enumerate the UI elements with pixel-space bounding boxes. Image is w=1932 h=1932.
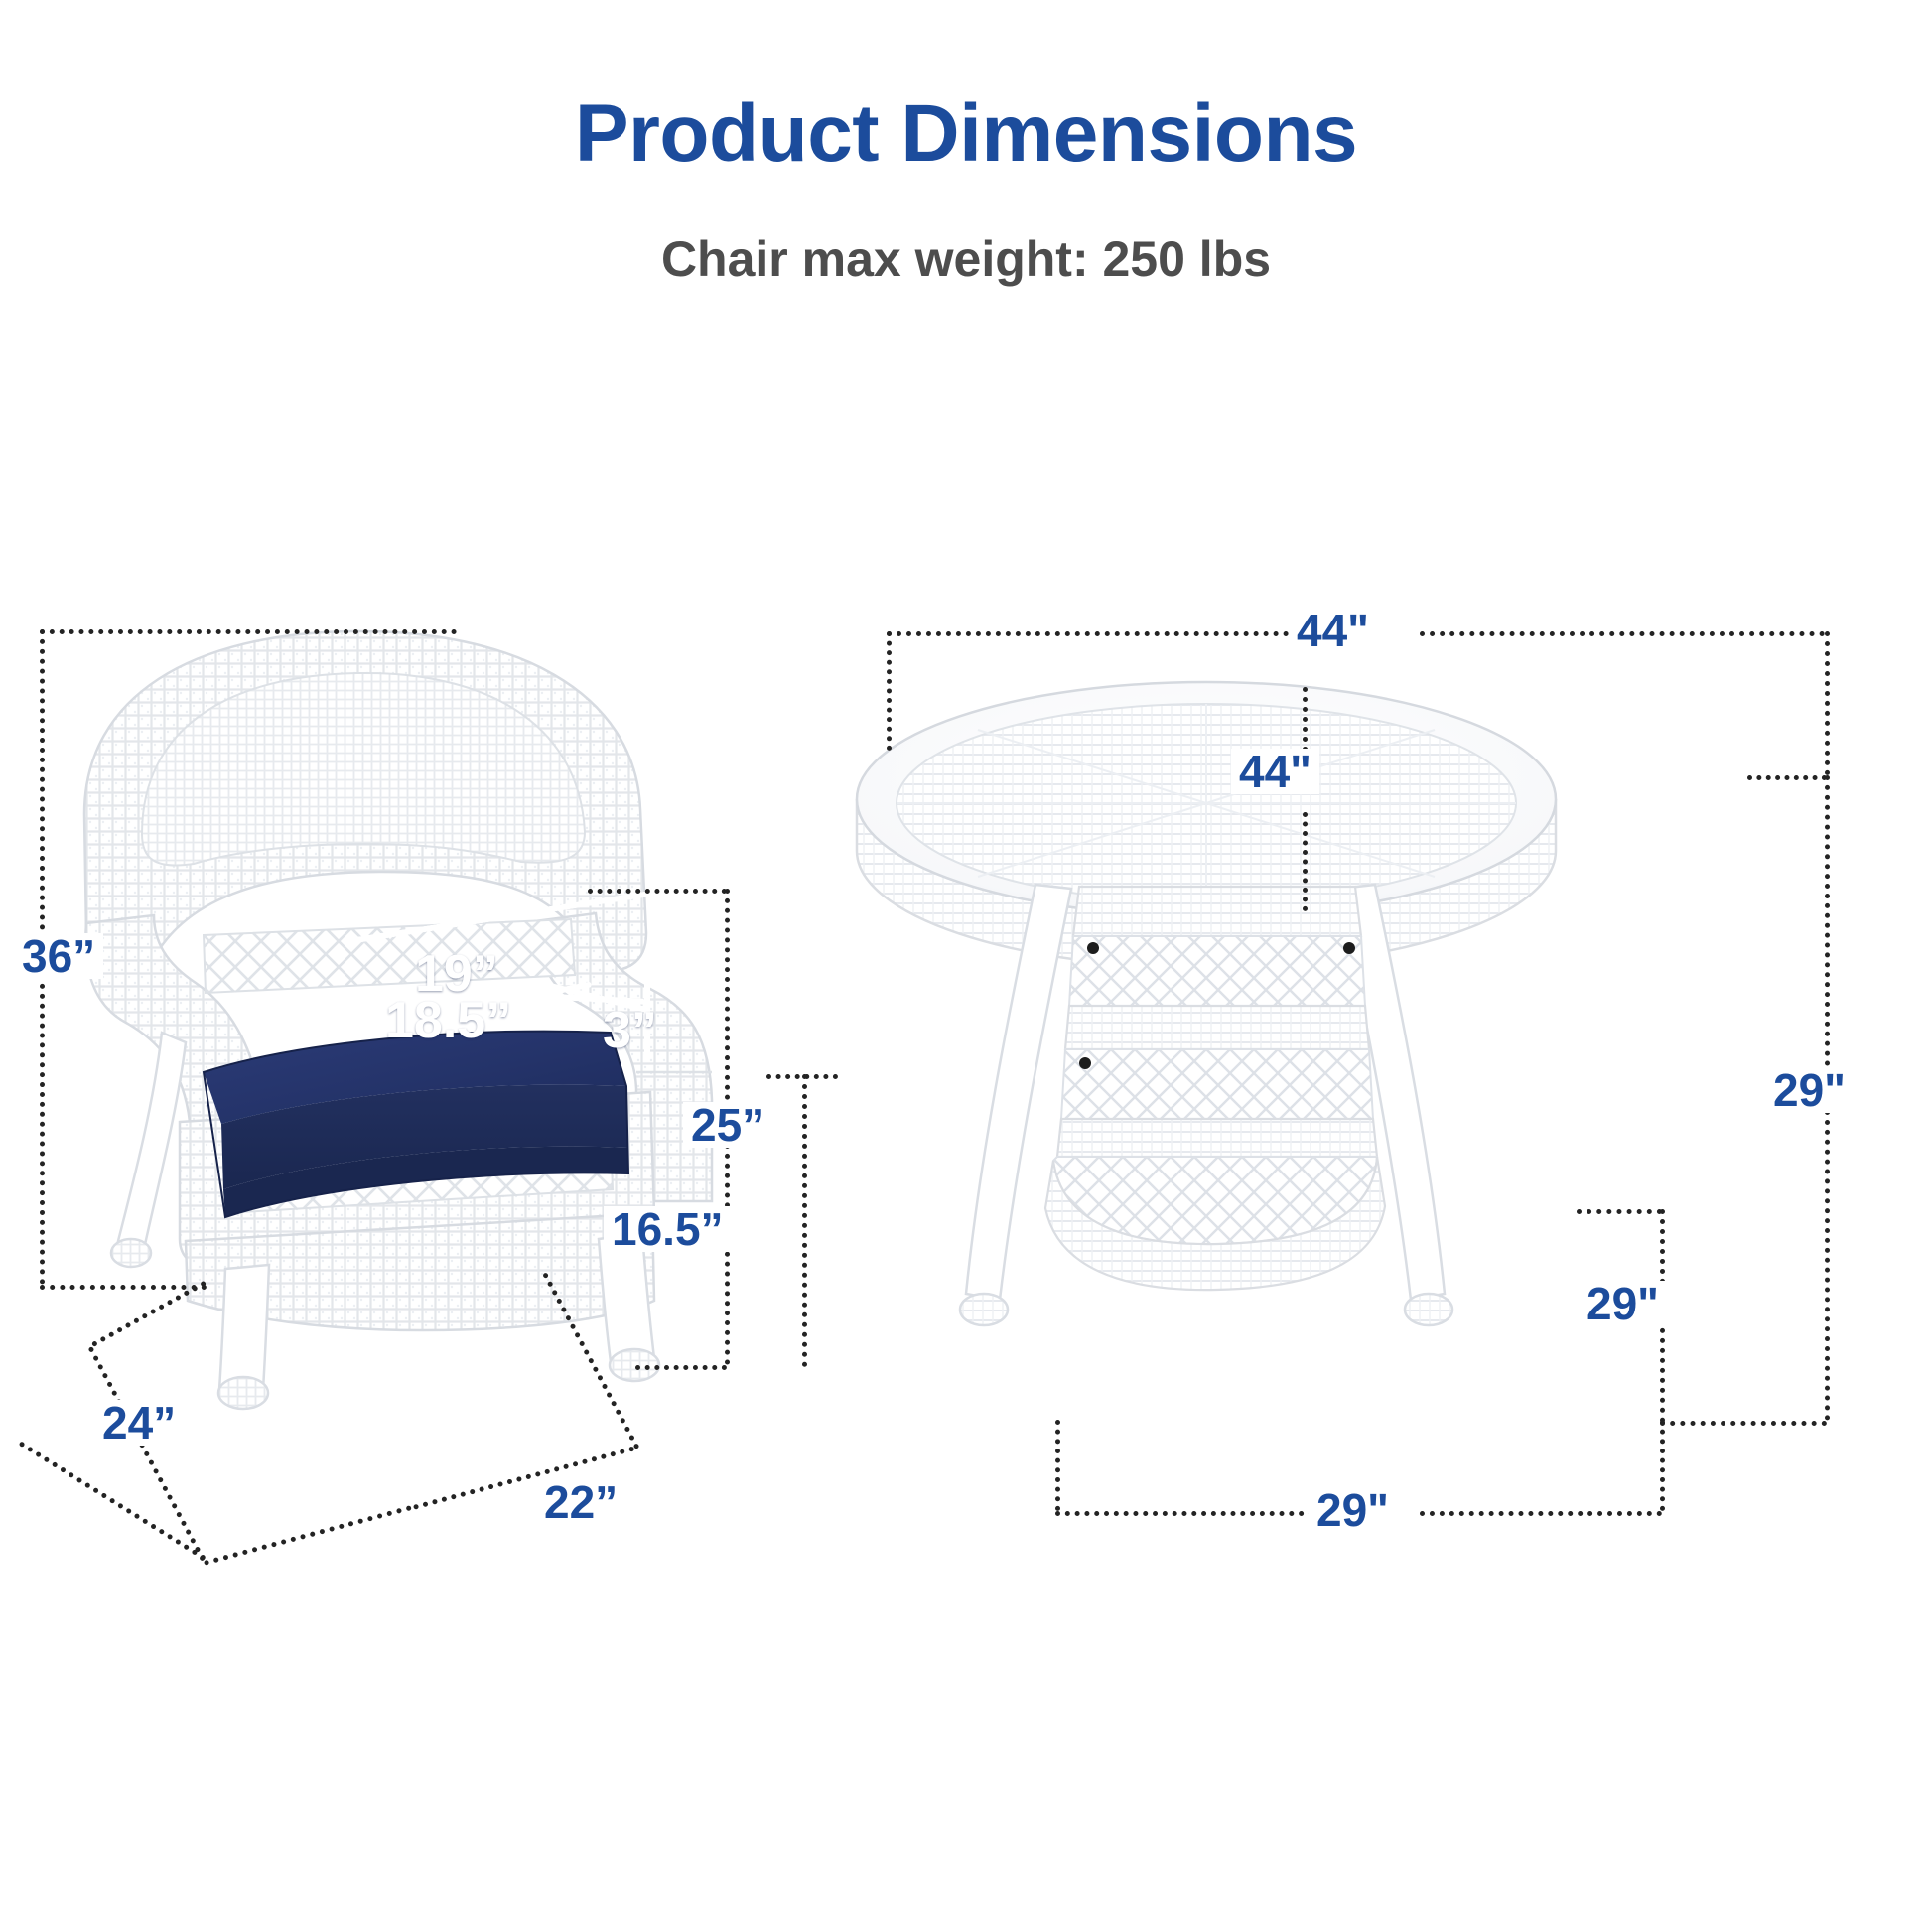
table-base-depth-label: 29" [1579,1281,1667,1326]
chair-height-top-guide [40,629,457,634]
chair-back-lattice [204,919,575,993]
page-subtitle: Chair max weight: 250 lbs [0,230,1932,288]
table-base-depth-top-guide [1577,1209,1662,1214]
table-width-top-guide-right [1420,631,1825,636]
table-height-bottom-guide [1660,1421,1827,1426]
cushion-thickness-label: 3” [603,1005,657,1056]
table-width-top-guide-left [887,631,1289,636]
table-width-right-drop [1825,631,1830,775]
table-base-width-left-drop [1055,1420,1060,1511]
chair-back-height-bottom-guide [635,1365,727,1370]
table-height-top-guide [1747,775,1827,780]
table-base-width-guide-right [1420,1511,1662,1516]
table-base-shelf [1045,887,1385,1290]
chair-height-bottom-guide [40,1285,207,1290]
chair-back-height-label: 25” [683,1102,772,1148]
diagram-canvas: Product Dimensions Chair max weight: 250… [0,0,1932,1932]
chair-depth-guide-left [88,1346,206,1562]
table-base-width-right-drop [1660,1420,1665,1511]
cushion-depth-label: 18.5” [385,995,511,1046]
table-height-label: 29" [1765,1067,1854,1113]
table-width-label: 44" [1289,608,1377,653]
chair-back-height-top-guide [588,889,727,894]
table-base-width-guide-left [1055,1511,1323,1516]
chair-seat-height-right-guide [802,1074,807,1367]
chair-seat-height-label: 16.5” [604,1206,732,1252]
chair-depth-label: 24” [94,1400,184,1446]
table-depth-label: 44" [1231,749,1319,794]
chair-width-label: 22” [536,1479,625,1525]
table-illustration [849,621,1564,1405]
chair-height-label: 36” [14,933,103,979]
table-width-left-drop [887,631,892,751]
table-base-width-label: 29" [1309,1487,1397,1533]
page-title: Product Dimensions [0,91,1932,177]
chair-width-guide-front [18,1441,206,1561]
chair-width-guide-lower [204,1505,412,1566]
table-depth-guide-lower [1303,812,1308,911]
